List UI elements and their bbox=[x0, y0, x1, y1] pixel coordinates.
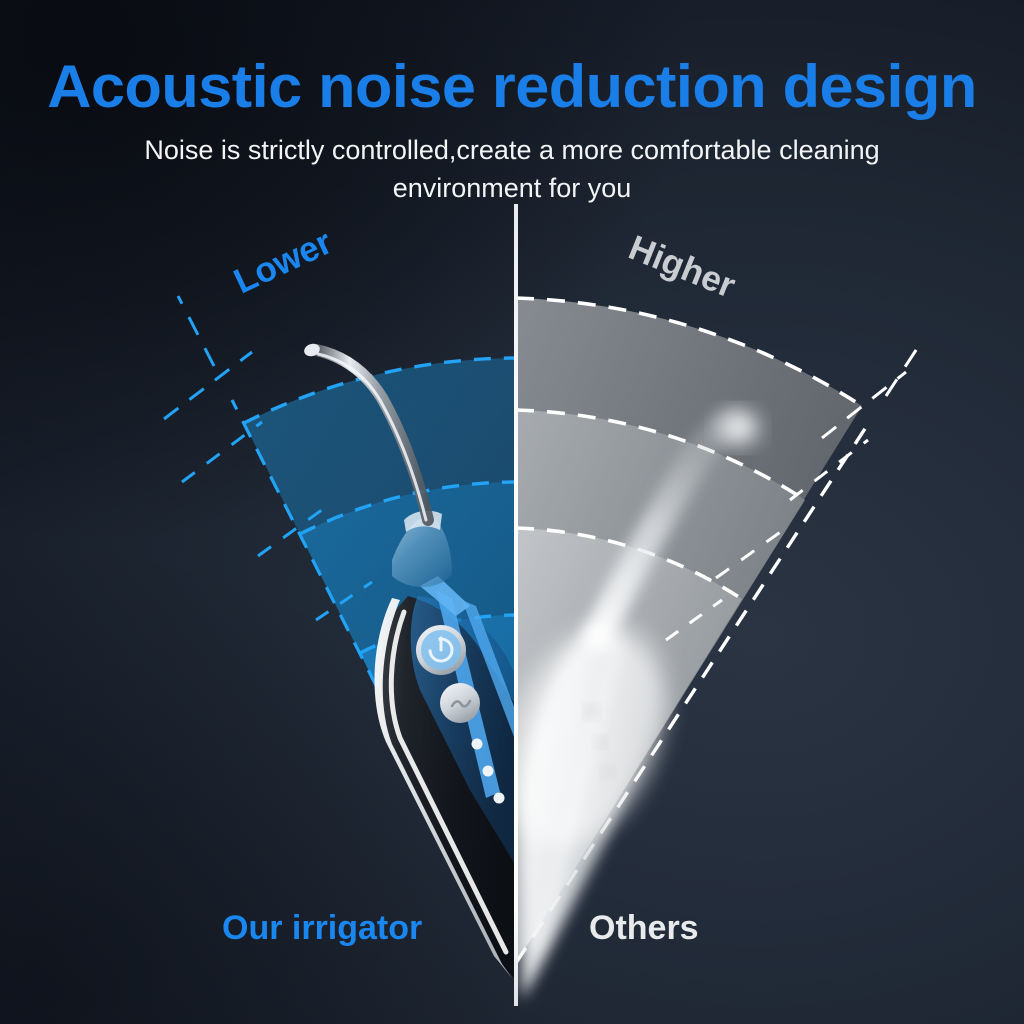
others-light-flare bbox=[473, 600, 697, 871]
others-jet-tip bbox=[598, 424, 736, 636]
product-comparison-poster: Acoustic noise reduction design Noise is… bbox=[0, 0, 1024, 1024]
others-indicator-dot-3 bbox=[602, 766, 614, 778]
center-divider bbox=[514, 204, 518, 1006]
others-jet-tip-end bbox=[718, 412, 758, 444]
others-device bbox=[0, 0, 1024, 1024]
